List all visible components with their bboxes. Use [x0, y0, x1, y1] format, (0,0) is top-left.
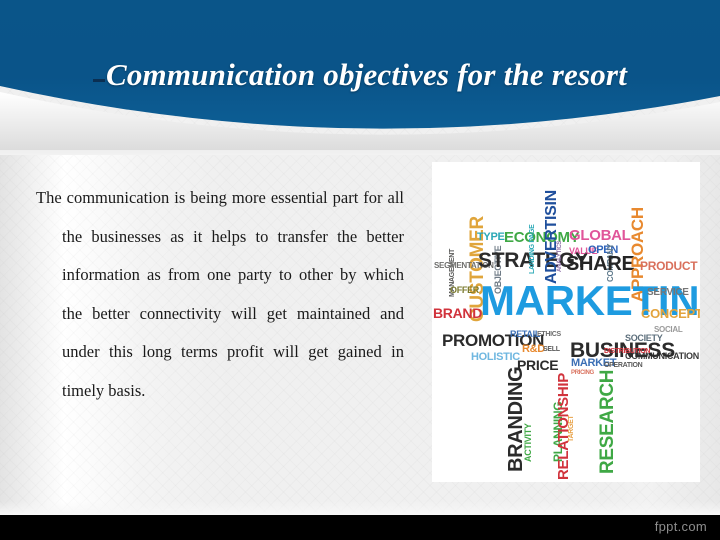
word-cloud-word: HOLISTIC [471, 352, 520, 363]
word-cloud-word: OPERATION [604, 362, 642, 369]
word-cloud-word: ETHICS [537, 331, 561, 338]
word-cloud-word: R&D [522, 344, 545, 355]
word-cloud-word: RESEARCH [598, 370, 617, 474]
word-cloud-word: DISTRIBUTION [604, 348, 650, 355]
footer-fade [0, 501, 720, 515]
word-cloud-word: LANDING PAGE [529, 224, 536, 274]
word-cloud-word: SELL [543, 346, 560, 353]
title-lead-underscore [93, 79, 105, 82]
body-text-block: The communication is being more essentia… [36, 179, 404, 410]
word-cloud-word: RETAIL [510, 330, 540, 339]
word-cloud-word: PRICING [571, 370, 594, 376]
word-cloud-word: ANALYTICS [557, 241, 563, 272]
body-paragraph: The communication is being more essentia… [36, 179, 404, 410]
word-cloud-word: RELATIONSHIP [556, 373, 571, 480]
presentation-slide: Communication objectives for the resort … [0, 0, 720, 540]
word-cloud-word: SHARE [566, 254, 635, 274]
word-cloud-word: GLOBAL [569, 228, 631, 243]
word-cloud-word: TYPE [477, 232, 505, 243]
page-title-text: Communication objectives for the resort [106, 57, 627, 92]
word-cloud-word: OFFER [450, 286, 479, 295]
word-cloud-word: ACTIVITY [524, 423, 533, 462]
marketing-word-cloud-image: MANAGEMENTCUSTOMEROBJECTIVESEGMENTATIONT… [432, 162, 700, 482]
word-cloud-word: SERVICE [647, 288, 689, 298]
slide-footer-bar: fppt.com [0, 515, 720, 540]
word-cloud-word: CONCEPT [641, 307, 700, 320]
word-cloud-word: PRODUCT [640, 260, 697, 272]
page-title: Communication objectives for the resort [0, 57, 720, 93]
word-cloud-canvas: MANAGEMENTCUSTOMEROBJECTIVESEGMENTATIONT… [432, 162, 700, 482]
word-cloud-word: BRAND [433, 306, 482, 320]
fppt-watermark: fppt.com [655, 519, 707, 534]
